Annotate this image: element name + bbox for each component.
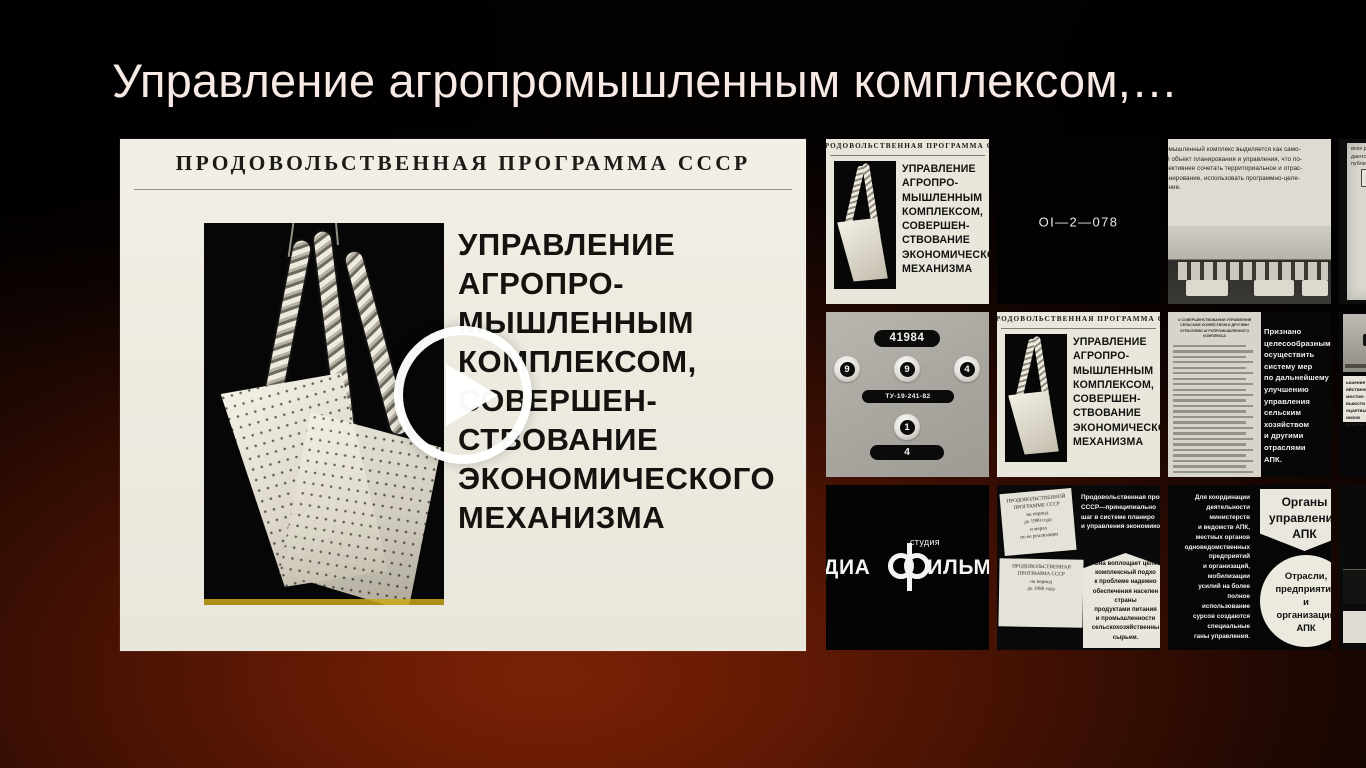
poster-divider-rule bbox=[134, 189, 792, 190]
wordmark-left: ДИА bbox=[826, 556, 870, 579]
callout-line: продуктами питания bbox=[1086, 605, 1160, 614]
document-line: гропр bbox=[1355, 263, 1366, 275]
right-text-line: СССР—принципиально bbox=[1081, 503, 1160, 513]
thumb-title-line: КОМПЛЕКСОМ, bbox=[1073, 378, 1160, 392]
document-line: К bbox=[1355, 191, 1366, 203]
quote-line: управления bbox=[1264, 396, 1331, 408]
apk-panel-title: Органы управления АПК bbox=[1260, 489, 1331, 551]
left-text-line: деятельности bbox=[1168, 503, 1250, 513]
paragraph-line: планирование, использовать программно-це… bbox=[1168, 174, 1329, 184]
thumb-title-line: СОВЕРШЕН- bbox=[902, 219, 989, 233]
left-text-line: предприятий bbox=[1168, 552, 1250, 562]
document-boxed-title: Орг bbox=[1361, 169, 1366, 187]
circle-line: Отрасли, bbox=[1285, 569, 1327, 582]
mixed-mid-line: яйственной bbox=[1346, 387, 1366, 394]
quote-line: и другими bbox=[1264, 430, 1331, 442]
mixed-bottom-line: раз bbox=[1343, 446, 1366, 454]
document-line: о bbox=[1355, 299, 1366, 304]
left-text-line: полное bbox=[1168, 592, 1250, 602]
document-top-text: всех рай- даются публикаци bbox=[1351, 146, 1366, 169]
knob-number: 9 bbox=[900, 362, 915, 377]
mixed-bottom-line: и о bbox=[1343, 469, 1366, 477]
mixed-bottom-line: звено bbox=[1343, 438, 1366, 446]
structure-footer-note: Гор bbox=[1343, 611, 1366, 643]
apk-circle-label: Отрасли, предприятия и организации АПК bbox=[1260, 555, 1331, 647]
knob-number: 9 bbox=[840, 362, 855, 377]
left-text-line: мобилизации bbox=[1168, 572, 1250, 582]
quote-line: отраслями bbox=[1264, 442, 1331, 454]
band-line: совер bbox=[1343, 489, 1366, 505]
document-line: Сове bbox=[1355, 203, 1366, 215]
text-line bbox=[1173, 454, 1246, 456]
right-text-line: и управления экономико bbox=[1081, 522, 1160, 532]
text-line bbox=[1173, 427, 1253, 429]
thumb-title-block: УПРАВЛЕНИЕ АГРОПРО- МЫШЛЕННЫМ КОМПЛЕКСОМ… bbox=[1073, 335, 1160, 449]
callout-line: сельскохозяйственны bbox=[1086, 623, 1160, 632]
left-text-line: местных органов bbox=[1168, 533, 1250, 543]
text-line bbox=[1173, 465, 1246, 467]
document-line: ре bbox=[1355, 251, 1366, 263]
page-title: Управление агропромышленным комплексом,… bbox=[112, 52, 1352, 110]
thumbnail-apk-bodies-frame[interactable]: Для координации деятельности министерств… bbox=[1168, 485, 1331, 650]
diafilm-logo-icon bbox=[888, 543, 930, 591]
poster-title-line: ЭКОНОМИЧЕСКОГО bbox=[458, 459, 790, 498]
text-line bbox=[1173, 421, 1246, 423]
left-text-line: министерств bbox=[1168, 513, 1250, 523]
mixed-bottom-text: укрепле звено раз с террит и о принцип bbox=[1343, 426, 1366, 475]
thumbnail-structure-frame[interactable]: совер руктур намеч пеннос упр Гор bbox=[1339, 485, 1366, 650]
callout-line: Она воплощает целе bbox=[1086, 559, 1160, 568]
text-line bbox=[1173, 394, 1253, 396]
leader-knob: 9 bbox=[894, 356, 920, 382]
mixed-mid-line: мостоя- bbox=[1346, 394, 1366, 401]
thumb-title-line: УПРАВЛЕНИЕ bbox=[1073, 335, 1160, 349]
quote-line: осуществить bbox=[1264, 349, 1331, 361]
right-text-line: шаг в системе планиро bbox=[1081, 513, 1160, 523]
paragraph-line: промышленный комплекс выделяется как сам… bbox=[1168, 145, 1329, 155]
thumb-title-line: МЫШЛЕННЫМ bbox=[902, 191, 989, 205]
wordmark-right: ИЛЬМ bbox=[927, 556, 989, 579]
panel-title-line: управления bbox=[1260, 510, 1331, 526]
callout-line: сырьем. bbox=[1086, 633, 1160, 642]
callout-line: страны bbox=[1086, 596, 1160, 605]
document-line: об bbox=[1355, 287, 1366, 299]
poster-title-line: МЕХАНИЗМА bbox=[458, 498, 790, 537]
left-text-line: специальные bbox=[1168, 622, 1250, 632]
punch-card bbox=[1008, 386, 1062, 459]
text-line bbox=[1173, 410, 1246, 412]
knob-number: 1 bbox=[900, 420, 915, 435]
text-line bbox=[1173, 372, 1253, 374]
decree-title: О СОВЕРШЕНСТВОВАНИИ УПРАВЛЕНИЯ СЕЛЬСКИМ … bbox=[1173, 318, 1256, 340]
truck bbox=[1302, 280, 1328, 296]
presentation-page: Управление агропромышленным комплексом,…… bbox=[0, 0, 1366, 768]
left-text-line: и ведомств АПК, bbox=[1168, 523, 1250, 533]
text-line bbox=[1173, 405, 1253, 407]
document-body: К Сове гропр К Совет ре гропр грпр об о bbox=[1355, 191, 1366, 292]
thumb-title-line: МЕХАНИЗМА bbox=[1073, 435, 1160, 449]
mixed-bar bbox=[1345, 364, 1366, 368]
text-line bbox=[1173, 438, 1253, 440]
text-line bbox=[1173, 389, 1246, 391]
thumb-title-line: МЫШЛЕННЫМ bbox=[1073, 364, 1160, 378]
document-sheet: всех рай- даются публикаци Орг К Сове гр… bbox=[1347, 143, 1366, 300]
circle-line: предприятия bbox=[1275, 582, 1331, 595]
quote-line: целесообразным bbox=[1264, 338, 1331, 350]
circle-line: и bbox=[1303, 595, 1309, 608]
leader-knob: 4 bbox=[954, 356, 980, 382]
quote-line: сельским bbox=[1264, 407, 1331, 419]
mixed-mid-line: ышение bbox=[1346, 380, 1366, 387]
paper-document: ПРОДОВОЛЬСТВЕННОЙ ПРОГРАММЕ СССР на пери… bbox=[999, 488, 1076, 556]
text-line bbox=[1173, 361, 1253, 363]
quote-line: Признано bbox=[1264, 326, 1331, 338]
left-text-line: одноведомственных bbox=[1168, 543, 1250, 553]
callout-line: комплексный подхо bbox=[1086, 568, 1160, 577]
quote-line: АПК. bbox=[1264, 454, 1331, 466]
mixed-bottom-line: террит bbox=[1343, 461, 1366, 469]
thumbnail-title-card-repeat[interactable]: ПРОДОВОЛЬСТВЕННАЯ ПРОГРАММА СССР УПРАВЛЕ… bbox=[997, 312, 1160, 477]
paper-line: до 1990 года bbox=[1002, 586, 1080, 595]
document-top-line: даются bbox=[1351, 154, 1366, 162]
paragraph-line: ффективнее сочетать территориальное и от… bbox=[1168, 164, 1329, 174]
thumb-title-line: СТВОВАНИЕ bbox=[902, 233, 989, 247]
apk-left-text: Для координации деятельности министерств… bbox=[1168, 493, 1254, 642]
circle-line: организации bbox=[1276, 608, 1331, 621]
paper-document: ПРОДОВОЛЬСТВЕННАЯ ПРОГРАММА СССР на пери… bbox=[998, 558, 1083, 627]
frame-code-text: OI—2—078 bbox=[997, 214, 1160, 229]
train-wagons bbox=[1178, 262, 1328, 280]
right-text-line: Продовольственная прог bbox=[1081, 493, 1160, 503]
text-line bbox=[1173, 350, 1253, 352]
video-player[interactable]: ПРОДОВОЛЬСТВЕННАЯ ПРОГРАММА СССР УПРАВЛЕ… bbox=[120, 139, 806, 651]
thumbnail-papers-montage-frame[interactable]: ПРОДОВОЛЬСТВЕННОЙ ПРОГРАММЕ СССР на пери… bbox=[997, 485, 1160, 650]
quote-line: улучшению bbox=[1264, 384, 1331, 396]
structure-band-text: совер руктур намеч пеннос упр bbox=[1343, 489, 1366, 559]
photo-bottom-strip bbox=[204, 599, 444, 605]
thumb-title-line: КОМПЛЕКСОМ, bbox=[902, 205, 989, 219]
thumbnail-grid: ПРОДОВОЛЬСТВЕННАЯ ПРОГРАММА СССР УПРАВЛЕ… bbox=[826, 139, 1366, 651]
panel-title-line: Органы bbox=[1260, 494, 1331, 510]
frame-photo-trucks bbox=[1168, 226, 1331, 304]
text-line bbox=[1173, 471, 1253, 473]
callout-line: и промышленности bbox=[1086, 614, 1160, 623]
thumbnail-text-photo-frame[interactable]: промышленный комплекс выделяется как сам… bbox=[1168, 139, 1331, 304]
thumbnail-code-frame[interactable]: OI—2—078 bbox=[997, 139, 1160, 304]
papers-callout-card: Она воплощает целе комплексный подхо к п… bbox=[1083, 553, 1160, 648]
thumb-title-block: УПРАВЛЕНИЕ АГРОПРО- МЫШЛЕННЫМ КОМПЛЕКСОМ… bbox=[902, 162, 989, 276]
text-line bbox=[1173, 356, 1246, 358]
text-line bbox=[1173, 449, 1253, 451]
thumbnail-diafilm-logo-frame[interactable]: ДИА ИЛЬМ студия bbox=[826, 485, 989, 650]
document-top-line: публикаци bbox=[1351, 161, 1366, 169]
play-triangle-icon bbox=[446, 364, 498, 426]
thumb-header-text: ПРОДОВОЛЬСТВЕННАЯ ПРОГРАММА СССР bbox=[997, 315, 1160, 323]
text-line bbox=[1173, 367, 1246, 369]
thumb-divider-rule bbox=[830, 155, 985, 156]
thumb-divider-rule bbox=[1001, 328, 1156, 329]
document-line: К bbox=[1355, 227, 1366, 239]
mixed-top-photo: На bbox=[1343, 314, 1366, 372]
thumb-title-line: СОВЕРШЕН- bbox=[1073, 392, 1160, 406]
document-line: Совет bbox=[1355, 239, 1366, 251]
left-text-line: Для координации bbox=[1168, 493, 1250, 503]
poster-title-line: АГРОПРО- bbox=[458, 264, 790, 303]
callout-line: обеспечения населен bbox=[1086, 587, 1160, 596]
circle-line: АПК bbox=[1296, 621, 1315, 634]
thumb-photo bbox=[834, 161, 896, 289]
quote-line: хозяйством bbox=[1264, 419, 1331, 431]
thumbnail-official-document-frame[interactable]: всех рай- даются публикаци Орг К Сове гр… bbox=[1339, 139, 1366, 304]
truck bbox=[1254, 280, 1294, 296]
thumb-title-line: АГРОПРО- bbox=[1073, 349, 1160, 363]
left-text-line: использование bbox=[1168, 602, 1250, 612]
poster-header-text: ПРОДОВОЛЬСТВЕННАЯ ПРОГРАММА СССР bbox=[120, 151, 806, 176]
mixed-mid-text: ышение яйственной мостоя- выюсти оцаетвы… bbox=[1343, 376, 1366, 422]
tu-code-pill: ТУ-19-241-82 bbox=[862, 390, 954, 403]
paragraph-line: вление. bbox=[1168, 183, 1329, 193]
reel-number-pill: 41984 bbox=[874, 330, 940, 347]
thumb-title-line: МЕХАНИЗМА bbox=[902, 262, 989, 276]
band-line: руктур bbox=[1343, 505, 1366, 521]
text-line bbox=[1173, 383, 1253, 385]
left-text-line: усилий на более bbox=[1168, 582, 1250, 592]
text-line bbox=[1173, 443, 1246, 445]
callout-line: к проблеме надежно bbox=[1086, 577, 1160, 586]
quote-line: систему мер bbox=[1264, 361, 1331, 373]
paragraph-line: ный объект планирования и управления, чт… bbox=[1168, 155, 1329, 165]
thumbnail-title-card[interactable]: ПРОДОВОЛЬСТВЕННАЯ ПРОГРАММА СССР УПРАВЛЕ… bbox=[826, 139, 989, 304]
band-line: упр bbox=[1343, 553, 1366, 569]
text-line bbox=[1173, 345, 1246, 347]
truck bbox=[1186, 280, 1228, 296]
frame-paragraph: промышленный комплекс выделяется как сам… bbox=[1168, 145, 1329, 193]
document-top-line: всех рай- bbox=[1351, 146, 1366, 154]
band-line: пеннос bbox=[1343, 537, 1366, 553]
left-text-line: ганы управления. bbox=[1168, 632, 1250, 642]
left-text-line: и организаций, bbox=[1168, 562, 1250, 572]
band-line: намеч bbox=[1343, 521, 1366, 537]
logo-bar bbox=[907, 543, 912, 591]
punch-card bbox=[837, 213, 891, 286]
left-text-line: сурсов создаются bbox=[1168, 612, 1250, 622]
leader-knob: 9 bbox=[834, 356, 860, 382]
quote-block: Признано целесообразным осуществить сист… bbox=[1264, 326, 1331, 465]
text-line bbox=[1173, 432, 1246, 434]
bottom-number-pill: 4 bbox=[870, 445, 944, 460]
panel-title-line: АПК bbox=[1260, 526, 1331, 542]
thumb-title-line: УПРАВЛЕНИЕ bbox=[902, 162, 989, 176]
text-line bbox=[1173, 460, 1253, 462]
wheat-stalk bbox=[335, 223, 339, 245]
quote-line: по дальнейшему bbox=[1264, 372, 1331, 384]
document-line: грпр bbox=[1355, 275, 1366, 287]
play-button[interactable] bbox=[394, 326, 532, 464]
thumb-title-line: АГРОПРО- bbox=[902, 176, 989, 190]
text-line bbox=[1173, 416, 1253, 418]
thumb-title-line: СТВОВАНИЕ bbox=[1073, 406, 1160, 420]
thumb-title-line: ЭКОНОМИЧЕСКОГО bbox=[902, 248, 989, 262]
leader-knob: 1 bbox=[894, 414, 920, 440]
thumbnail-film-leader-frame[interactable]: 41984 9 9 4 ТУ-19-241-82 1 4 bbox=[826, 312, 989, 477]
text-line bbox=[1173, 378, 1246, 380]
text-line bbox=[1173, 399, 1246, 401]
document-line: гропр bbox=[1355, 215, 1366, 227]
thumb-photo bbox=[1005, 334, 1067, 462]
thumbnail-mixed-panel-frame[interactable]: На ышение яйственной мостоя- выюсти оцае… bbox=[1339, 312, 1366, 477]
mixed-mid-line: выюсти bbox=[1346, 401, 1366, 408]
poster-title-line: УПРАВЛЕНИЕ bbox=[458, 225, 790, 264]
decree-sheet: О СОВЕРШЕНСТВОВАНИИ УПРАВЛЕНИЯ СЕЛЬСКИМ … bbox=[1168, 312, 1261, 477]
papers-right-text: Продовольственная прог СССР—принципиальн… bbox=[1081, 493, 1160, 532]
thumb-title-line: ЭКОНОМИЧЕСКОГО bbox=[1073, 421, 1160, 435]
thumb-header-text: ПРОДОВОЛЬСТВЕННАЯ ПРОГРАММА СССР bbox=[826, 142, 989, 150]
mixed-bottom-line: укрепле bbox=[1343, 430, 1366, 438]
mixed-mid-line: иизов bbox=[1346, 415, 1366, 422]
mixed-bottom-line: с bbox=[1343, 453, 1366, 461]
mixed-mid-line: оцаетвы bbox=[1346, 408, 1366, 415]
knob-number: 4 bbox=[960, 362, 975, 377]
structure-block bbox=[1343, 569, 1366, 604]
thumbnail-decree-quote-frame[interactable]: О СОВЕРШЕНСТВОВАНИИ УПРАВЛЕНИЯ СЕЛЬСКИМ … bbox=[1168, 312, 1331, 477]
